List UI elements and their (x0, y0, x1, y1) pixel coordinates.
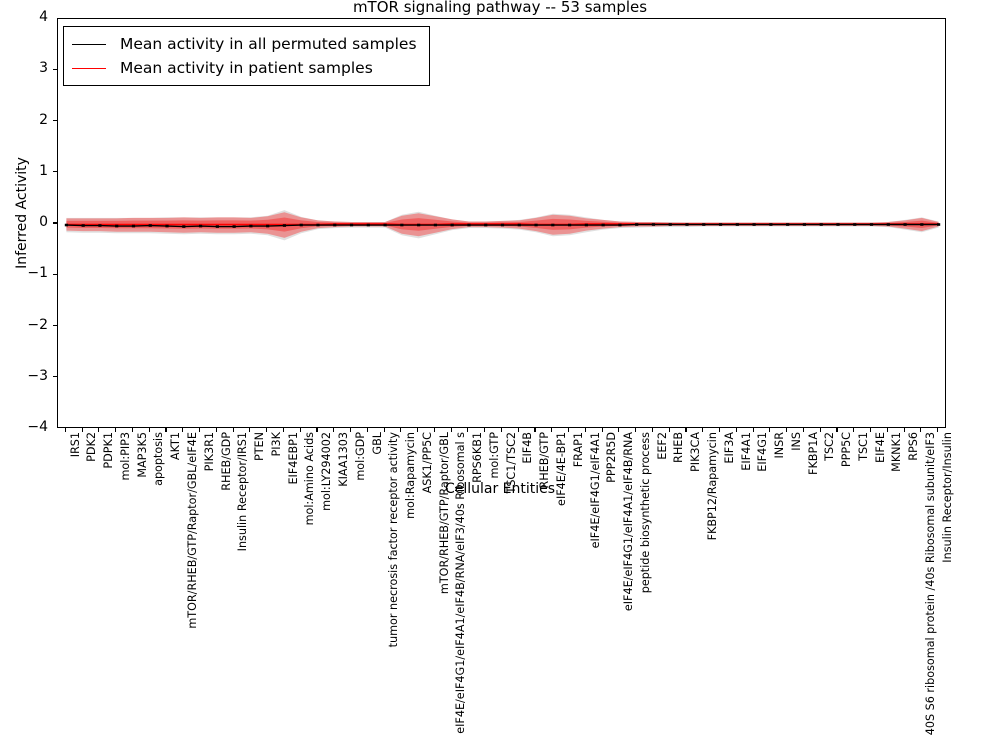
y-tick-label: −2 (18, 317, 48, 333)
permuted-point-marker (870, 223, 873, 226)
x-tick-label: FKBP1A (808, 432, 819, 475)
permuted-point-marker (501, 224, 504, 227)
x-tick-label: PIK3CA (690, 432, 701, 472)
x-tick-mark (165, 428, 166, 432)
x-tick-label: tumor necrosis factor receptor activity (388, 432, 399, 647)
y-tick-label: −4 (18, 419, 48, 435)
permuted-point-marker (568, 224, 571, 227)
x-tick-label: mol:GTP (489, 432, 500, 478)
x-tick-label: MAP3K5 (137, 432, 148, 478)
x-tick-mark (266, 428, 267, 432)
permuted-point-marker (350, 224, 353, 227)
y-tick-label: −3 (18, 368, 48, 384)
x-tick-label: MKNK1 (891, 432, 902, 472)
x-tick-mark (384, 428, 385, 432)
permuted-point-marker (300, 224, 303, 227)
permuted-point-marker (685, 223, 688, 226)
permuted-point-marker (149, 224, 152, 227)
y-tick-label: 3 (18, 60, 48, 76)
x-tick-mark (652, 428, 653, 432)
x-tick-mark (736, 428, 737, 432)
x-tick-mark (115, 428, 116, 432)
x-tick-label: GBL (372, 432, 383, 455)
x-tick-mark (316, 428, 317, 432)
x-tick-mark (484, 428, 485, 432)
permuted-point-marker (132, 225, 135, 228)
permuted-point-marker (283, 224, 286, 227)
permuted-point-marker (903, 223, 906, 226)
chart-root: mTOR signaling pathway -- 53 samples Inf… (0, 0, 1000, 500)
x-tick-mark (82, 428, 83, 432)
chart-legend: Mean activity in all permuted samples Me… (63, 26, 430, 86)
x-tick-mark (719, 428, 720, 432)
x-tick-label: 40S S6 ribosomal protein /40s Ribosomal … (925, 432, 936, 735)
x-tick-label: mol:Rapamycin (405, 432, 416, 519)
x-tick-label: mol:Amino Acids (304, 432, 315, 525)
x-tick-mark (182, 428, 183, 432)
permuted-point-marker (199, 225, 202, 228)
chart-title: mTOR signaling pathway -- 53 samples (0, 0, 1000, 16)
permuted-point-marker (333, 224, 336, 227)
permuted-point-marker (618, 224, 621, 227)
x-tick-mark (786, 428, 787, 432)
x-tick-mark (65, 428, 66, 432)
permuted-point-marker (736, 223, 739, 226)
permuted-point-marker (451, 224, 454, 227)
permuted-point-marker (484, 224, 487, 227)
y-tick-label: −1 (18, 265, 48, 281)
x-tick-mark (551, 428, 552, 432)
x-tick-mark (618, 428, 619, 432)
permuted-point-marker (551, 224, 554, 227)
x-tick-label: mol:GDP (355, 432, 366, 481)
permuted-point-marker (316, 224, 319, 227)
x-tick-label: mol:PIP3 (120, 432, 131, 481)
x-tick-mark (669, 428, 670, 432)
permuted-point-marker (216, 225, 219, 228)
x-tick-label: IRS1 (70, 432, 81, 457)
permuted-point-marker (635, 223, 638, 226)
x-tick-label: PPP2R5D (606, 432, 617, 483)
permuted-point-marker (602, 224, 605, 227)
permuted-point-marker (115, 225, 118, 228)
x-tick-mark (367, 428, 368, 432)
x-tick-label: EIF3A (724, 432, 735, 464)
x-tick-label: EIF4EBP1 (288, 432, 299, 485)
x-tick-mark (417, 428, 418, 432)
permuted-point-marker (165, 225, 168, 228)
permuted-point-marker (719, 223, 722, 226)
permuted-point-marker (182, 225, 185, 228)
x-tick-label: PDPK1 (103, 432, 114, 469)
y-tick-label: 4 (18, 9, 48, 25)
permuted-point-marker (467, 224, 470, 227)
legend-label-patient: Mean activity in patient samples (120, 59, 373, 77)
permuted-point-marker (836, 223, 839, 226)
permuted-point-marker (65, 224, 68, 227)
x-tick-mark (534, 428, 535, 432)
permuted-point-marker (266, 225, 269, 228)
x-tick-mark (283, 428, 284, 432)
x-tick-label: INS (791, 432, 802, 451)
x-tick-mark (249, 428, 250, 432)
x-tick-mark (400, 428, 401, 432)
x-tick-label: eIF4E/eIF4G1/eIF4A1/eIF4B/RNA (623, 432, 634, 611)
y-tick-label: 1 (18, 163, 48, 179)
legend-swatch-permuted (72, 44, 106, 45)
permuted-point-marker (803, 223, 806, 226)
permuted-point-marker (233, 225, 236, 228)
permuted-point-marker (669, 223, 672, 226)
permuted-point-marker (887, 223, 890, 226)
x-tick-label: AKT1 (170, 432, 181, 460)
x-tick-mark (920, 428, 921, 432)
permuted-point-marker (417, 224, 420, 227)
x-tick-label: PI3K (271, 432, 282, 457)
x-axis-label: Cellular Entities (0, 481, 1000, 497)
x-tick-label: PTEN (254, 432, 265, 461)
x-tick-mark (853, 428, 854, 432)
x-tick-mark (602, 428, 603, 432)
x-tick-mark (685, 428, 686, 432)
permuted-point-marker (98, 224, 101, 227)
x-tick-label: FRAP1 (573, 432, 584, 467)
x-tick-label: apoptosis (153, 432, 164, 486)
x-tick-label: EEF2 (657, 432, 668, 460)
permuted-point-marker (82, 224, 85, 227)
x-tick-label: RPS6KB1 (472, 432, 483, 483)
legend-item-patient: Mean activity in patient samples (72, 56, 417, 80)
x-tick-mark (333, 428, 334, 432)
permuted-point-marker (367, 224, 370, 227)
x-tick-label: mTOR/RHEB/GTP/Raptor/GBL (439, 432, 450, 594)
legend-item-permuted: Mean activity in all permuted samples (72, 32, 417, 56)
permuted-point-marker (786, 223, 789, 226)
x-tick-mark (434, 428, 435, 432)
x-tick-mark (820, 428, 821, 432)
y-tick-label: 0 (18, 214, 48, 230)
x-tick-label: eIF4E/eIF4G1/eIF4A1/eIF4B/RNA/eIF3/40s R… (455, 432, 466, 734)
permuted-point-marker (753, 223, 756, 226)
x-tick-mark (836, 428, 837, 432)
x-tick-mark (887, 428, 888, 432)
x-tick-label: TSC1 (858, 432, 869, 461)
x-tick-label: INSR (774, 432, 785, 459)
x-tick-mark (350, 428, 351, 432)
x-tick-mark (518, 428, 519, 432)
x-tick-mark (132, 428, 133, 432)
x-tick-mark (585, 428, 586, 432)
x-tick-mark (98, 428, 99, 432)
x-tick-mark (937, 428, 938, 432)
x-tick-mark (803, 428, 804, 432)
permuted-point-marker (769, 223, 772, 226)
x-tick-label: PIK3R1 (204, 432, 215, 471)
x-tick-label: PPP5C (841, 432, 852, 467)
x-tick-mark (149, 428, 150, 432)
x-tick-mark (300, 428, 301, 432)
x-tick-mark (702, 428, 703, 432)
x-tick-mark (233, 428, 234, 432)
x-tick-mark (769, 428, 770, 432)
x-tick-mark (635, 428, 636, 432)
permuted-point-marker (383, 224, 386, 227)
x-tick-mark (451, 428, 452, 432)
x-tick-label: Insulin Receptor/Insulin (942, 432, 953, 563)
permuted-point-marker (434, 224, 437, 227)
permuted-point-marker (702, 223, 705, 226)
x-tick-label: mol:LY294002 (321, 432, 332, 511)
permuted-point-marker (518, 224, 521, 227)
permuted-point-marker (249, 225, 252, 228)
y-tick-label: 2 (18, 112, 48, 128)
legend-swatch-patient (72, 68, 106, 69)
x-tick-label: KIAA1303 (338, 432, 349, 487)
x-tick-label: mTOR/RHEB/GTP/Raptor/GBL/eIF4E (187, 432, 198, 629)
permuted-point-marker (820, 223, 823, 226)
permuted-point-marker (400, 224, 403, 227)
x-tick-mark (753, 428, 754, 432)
x-tick-mark (870, 428, 871, 432)
permuted-point-marker (652, 223, 655, 226)
x-tick-label: RHEB (673, 432, 684, 463)
x-tick-mark (216, 428, 217, 432)
x-tick-mark (501, 428, 502, 432)
permuted-point-marker (920, 223, 923, 226)
permuted-point-marker (585, 224, 588, 227)
permuted-point-marker (853, 223, 856, 226)
x-tick-mark (904, 428, 905, 432)
permuted-point-marker (534, 224, 537, 227)
x-tick-label: EIF4B (522, 432, 533, 464)
x-tick-label: PDK2 (86, 432, 97, 462)
x-tick-mark (467, 428, 468, 432)
x-tick-label: TSC2 (824, 432, 835, 461)
x-tick-label: peptide biosynthetic process (640, 432, 651, 593)
legend-label-permuted: Mean activity in all permuted samples (120, 35, 417, 53)
x-tick-mark (199, 428, 200, 432)
x-tick-label: RPS6 (908, 432, 919, 461)
x-tick-mark (568, 428, 569, 432)
x-tick-label: EIF4E (875, 432, 886, 463)
x-tick-label: EIF4A1 (741, 432, 752, 471)
permuted-point-marker (937, 223, 940, 226)
x-tick-label: EIF4G1 (757, 432, 768, 472)
